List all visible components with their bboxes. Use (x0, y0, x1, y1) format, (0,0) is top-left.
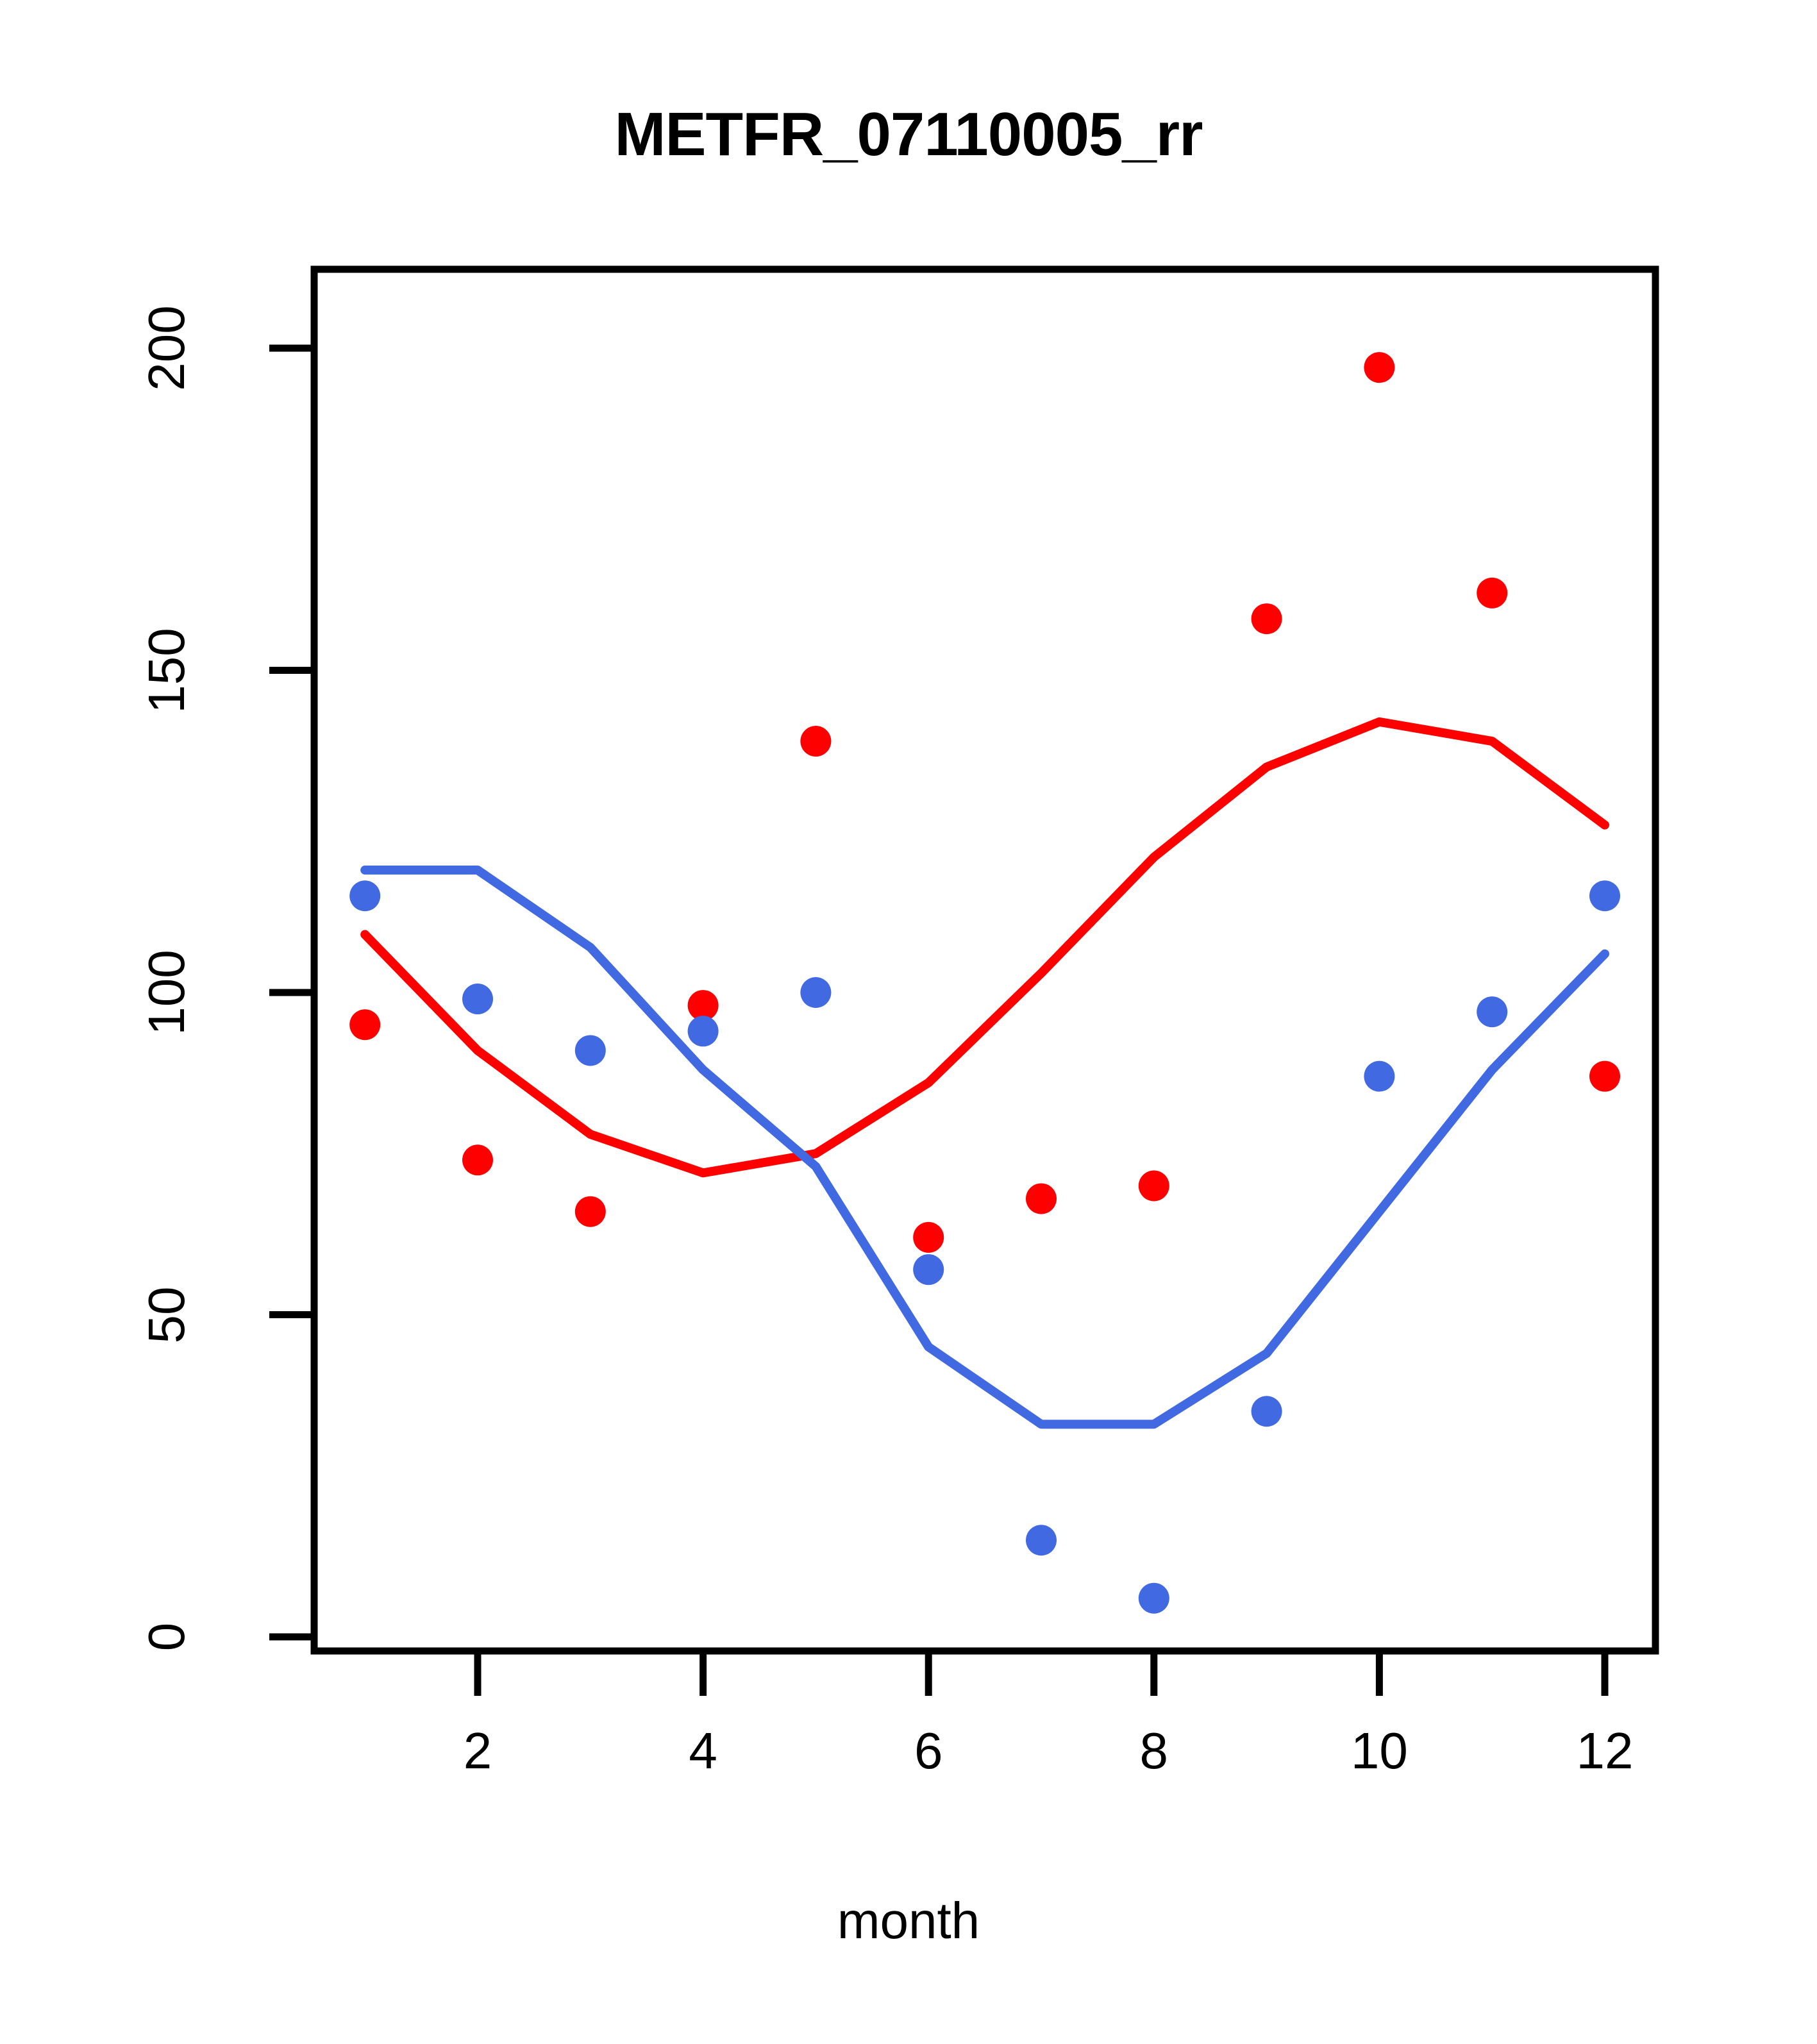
data-point (349, 880, 380, 911)
chart-figure: METFR_07110005_rr 050100150200 24681012 … (0, 0, 1817, 2044)
data-point (1252, 1396, 1282, 1427)
x-axis-label: month (0, 1891, 1817, 1950)
data-point (800, 726, 831, 757)
data-point (462, 984, 493, 1014)
data-point (1589, 1061, 1620, 1092)
data-point (1026, 1184, 1057, 1214)
data-point (1364, 1061, 1394, 1092)
data-point (1252, 603, 1282, 634)
data-point (349, 1009, 380, 1040)
series-line-red-line (365, 722, 1605, 1173)
data-point (913, 1222, 944, 1253)
data-point (800, 977, 831, 1008)
data-point (1139, 1171, 1169, 1202)
data-point (1477, 578, 1507, 608)
data-point (575, 1196, 606, 1227)
y-tick-label: 150 (138, 594, 196, 748)
data-point (1139, 1583, 1169, 1614)
data-point (1589, 880, 1620, 911)
data-point (1477, 996, 1507, 1027)
y-tick-label: 200 (138, 271, 196, 425)
x-tick-label: 8 (1071, 1721, 1237, 1780)
series-lines (365, 722, 1605, 1424)
data-point (575, 1035, 606, 1066)
data-point (1026, 1525, 1057, 1555)
data-point (688, 1016, 719, 1046)
x-tick-label: 4 (620, 1721, 787, 1780)
y-tick-label: 0 (138, 1560, 196, 1714)
x-tick-label: 10 (1296, 1721, 1462, 1780)
x-tick-label: 12 (1521, 1721, 1688, 1780)
x-tick-label: 2 (394, 1721, 561, 1780)
data-point (913, 1254, 944, 1285)
series-line-blue-line (365, 870, 1605, 1424)
y-tick-label: 100 (138, 916, 196, 1069)
axis-box (314, 269, 1655, 1651)
series-points (349, 352, 1620, 1614)
x-tick-label: 6 (845, 1721, 1012, 1780)
data-point (1364, 352, 1394, 383)
y-tick-label: 50 (138, 1238, 196, 1392)
y-axis-ticks (269, 348, 314, 1637)
plot-frame (314, 269, 1655, 1651)
x-axis-ticks (478, 1651, 1605, 1696)
data-point (462, 1144, 493, 1175)
